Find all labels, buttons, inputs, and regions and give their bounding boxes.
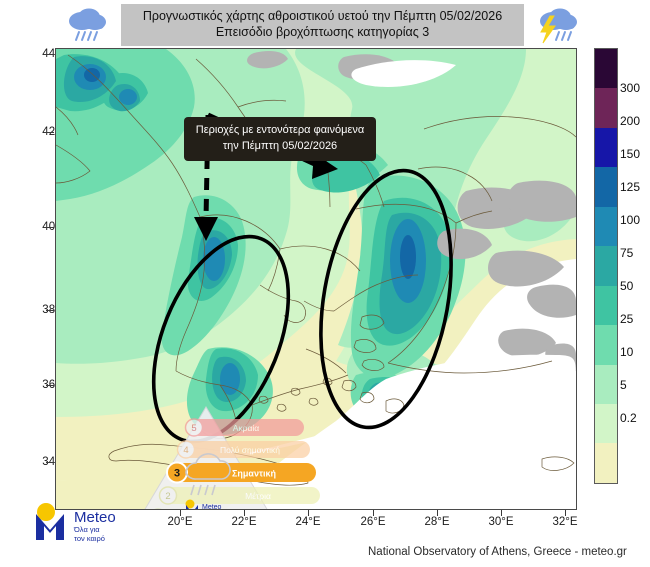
ytick-mark-36n	[46, 385, 54, 386]
colorbar-segment-50-75	[595, 286, 617, 325]
colorbar-segment-150-200	[595, 128, 617, 167]
colorbar-segment-5-10	[595, 404, 617, 443]
pyramid-level-5-number: 5	[191, 423, 196, 434]
rain-cloud-icon	[62, 6, 114, 44]
colorbar-segment-10-25	[595, 365, 617, 404]
pyramid-logo-brand: Meteo	[202, 504, 222, 510]
chart-title: Προγνωστικός χάρτης αθροιστικού υετού τη…	[121, 9, 524, 40]
ytick-mark-44n	[46, 54, 54, 55]
colorbar-label-5: 5	[620, 378, 627, 392]
pyramid-level-5-label: Ακραία	[233, 423, 260, 433]
xtick-mark-22e	[244, 509, 245, 516]
ytick-mark-40n	[46, 227, 54, 228]
pyramid-level-3-label: Σημαντική	[232, 469, 276, 479]
pyramid-svg: 5 Ακραία 4 Πολύ σημαντική 3 Σημαντική	[128, 405, 326, 510]
colorbar-segment-125-150	[595, 167, 617, 206]
colorbar-label-200: 200	[620, 114, 640, 128]
rain-cloud-icon-box	[55, 4, 121, 46]
annotation-callout: Περιοχές με εντονότερα φαινόμενα την Πέμ…	[184, 117, 376, 161]
pyramid-level-4-label: Πολύ σημαντική	[220, 445, 280, 455]
xtick-mark-24e	[308, 509, 309, 516]
logo-tagline-line-2: τον καιρό	[74, 534, 105, 543]
callout-line-2: την Πέμπτη 05/02/2026	[223, 139, 337, 155]
xtick-label-28e: 28°E	[407, 516, 467, 528]
title-line-2: Επεισόδιο βροχόπτωσης κατηγορίας 3	[121, 25, 524, 41]
colorbar-label-300: 300	[620, 81, 640, 95]
thunderstorm-cloud-icon-box	[524, 4, 590, 46]
colorbar-segment-below-0.2	[595, 483, 617, 484]
xtick-mark-20e	[180, 509, 181, 516]
xtick-label-26e: 26°E	[343, 516, 403, 528]
xtick-label-24e: 24°E	[278, 516, 338, 528]
colorbar-label-0.2: 0.2	[620, 411, 637, 425]
pyramid-level-4[interactable]: 4 Πολύ σημαντική	[178, 441, 311, 458]
meteo-logo-svg: Meteo Όλα για τον καιρό	[30, 500, 180, 544]
callout-line-1: Περιοχές με εντονότερα φαινόμενα	[196, 123, 364, 139]
pyramid-level-4-number: 4	[183, 445, 188, 456]
ytick-mark-42n	[46, 132, 54, 133]
colorbar-label-50: 50	[620, 279, 633, 293]
colorbar-segment-100-125	[595, 207, 617, 246]
colorbar[interactable]	[594, 48, 618, 484]
xtick-mark-32e	[565, 509, 566, 516]
logo-brand-text: Meteo	[74, 509, 116, 526]
colorbar-label-25: 25	[620, 312, 633, 326]
xtick-mark-28e	[437, 509, 438, 516]
credit-text: National Observatory of Athens, Greece -…	[368, 546, 627, 558]
pyramid-level-2[interactable]: 2 Μέτρια	[160, 487, 321, 504]
colorbar-label-100: 100	[620, 213, 640, 227]
ytick-mark-38n	[46, 310, 54, 311]
logo-tagline-line-1: Όλα για	[73, 525, 100, 534]
pyramid-level-2-label: Μέτρια	[245, 491, 271, 501]
colorbar-segment-200-300	[595, 88, 617, 127]
colorbar-segment-25-50	[595, 325, 617, 364]
colorbar-segment-0.2-5	[595, 443, 617, 482]
colorbar-label-75: 75	[620, 246, 633, 260]
xtick-mark-30e	[501, 509, 502, 516]
ytick-mark-34n	[46, 462, 54, 463]
thunderstorm-cloud-icon	[531, 6, 583, 44]
xtick-label-30e: 30°E	[471, 516, 531, 528]
xtick-label-22e: 22°E	[214, 516, 274, 528]
chart-header: Προγνωστικός χάρτης αθροιστικού υετού τη…	[55, 4, 590, 46]
xtick-mark-26e	[373, 509, 374, 516]
xtick-label-32e: 32°E	[535, 516, 595, 528]
precipitation-map[interactable]: 5 Ακραία 4 Πολύ σημαντική 3 Σημαντική	[55, 48, 577, 510]
pyramid-level-5[interactable]: 5 Ακραία	[186, 419, 305, 436]
title-line-1: Προγνωστικός χάρτης αθροιστικού υετού τη…	[121, 9, 524, 25]
colorbar-segment-75-100	[595, 246, 617, 285]
pyramid-level-3-number: 3	[174, 468, 180, 480]
meteo-logo[interactable]: Meteo Όλα για τον καιρό	[30, 500, 180, 544]
colorbar-label-150: 150	[620, 147, 640, 161]
colorbar-label-125: 125	[620, 180, 640, 194]
colorbar-label-10: 10	[620, 345, 633, 359]
colorbar-segment-300-plus	[595, 49, 617, 88]
severity-pyramid-legend[interactable]: 5 Ακραία 4 Πολύ σημαντική 3 Σημαντική	[128, 405, 326, 510]
